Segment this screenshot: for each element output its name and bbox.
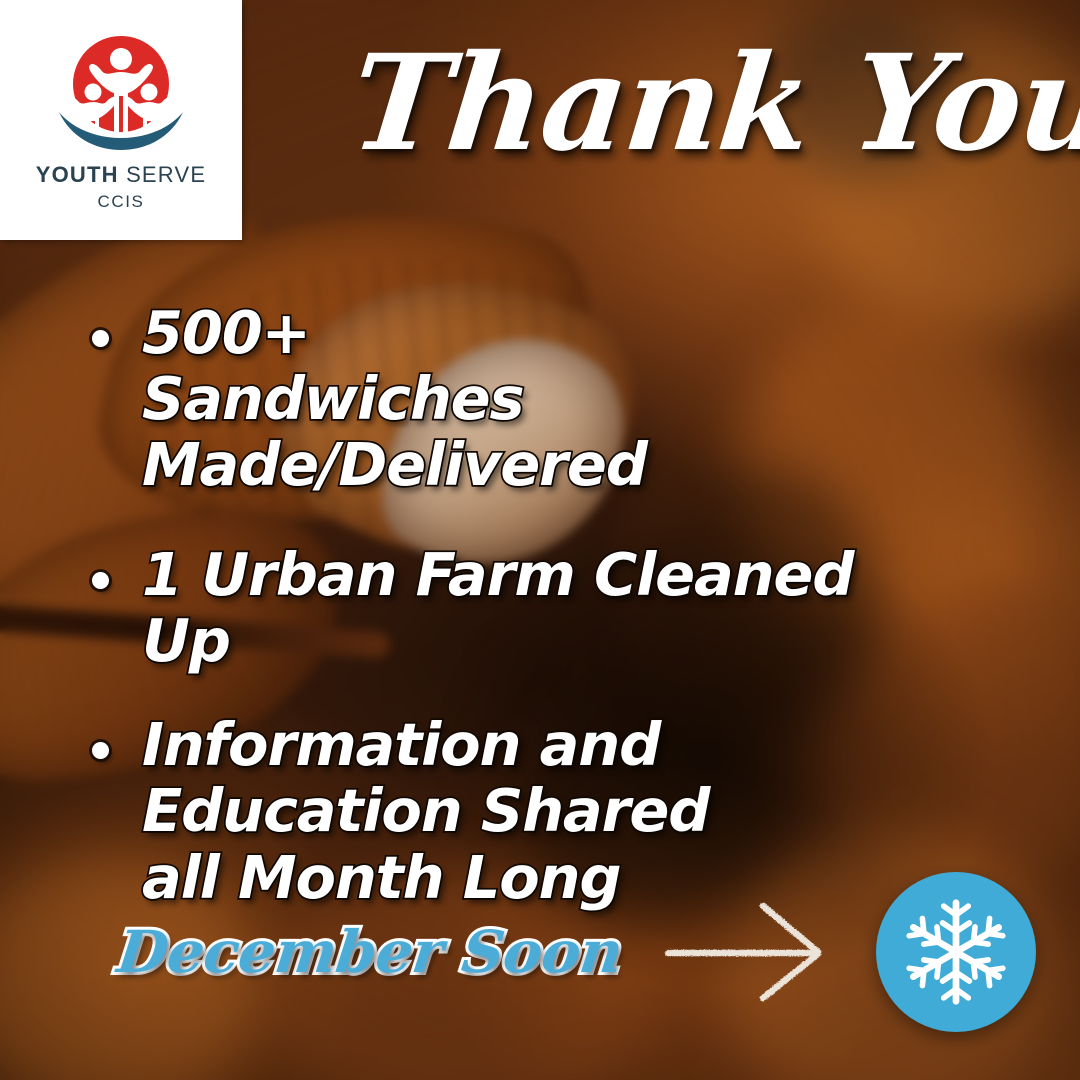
bullet-dot-icon [92, 572, 109, 589]
page-title: Thank You!! [345, 38, 1019, 170]
logo-wordmark-line-1: YOUTH SERVE [36, 164, 207, 186]
list-item: 1 Urban Farm Cleaned Up [92, 542, 992, 674]
footer-cta: December Soon [118, 852, 1058, 1052]
list-item: 500+ Sandwiches Made/Delivered [92, 300, 992, 498]
logo-card: YOUTH SERVE CCIS [0, 0, 242, 240]
bullet-dot-icon [92, 330, 109, 347]
logo-word-youth: YOUTH [36, 162, 119, 187]
achievement-text: 500+ Sandwiches Made/Delivered [142, 300, 662, 498]
youth-serve-logo-icon [56, 30, 186, 158]
right-arrow-chalk-icon [662, 892, 832, 1012]
poster: YOUTH SERVE CCIS Thank You!! 500+ Sandwi… [0, 0, 1080, 1080]
achievement-text: 1 Urban Farm Cleaned Up [142, 542, 942, 674]
logo-word-serve: SERVE [126, 162, 206, 187]
bullet-dot-icon [92, 742, 109, 759]
snowflake-badge [876, 872, 1036, 1032]
logo-wordmark: YOUTH SERVE CCIS [36, 164, 207, 210]
december-soon-label: December Soon [114, 923, 625, 981]
logo-subtitle-ccis: CCIS [36, 193, 207, 210]
snowflake-icon [900, 896, 1012, 1008]
